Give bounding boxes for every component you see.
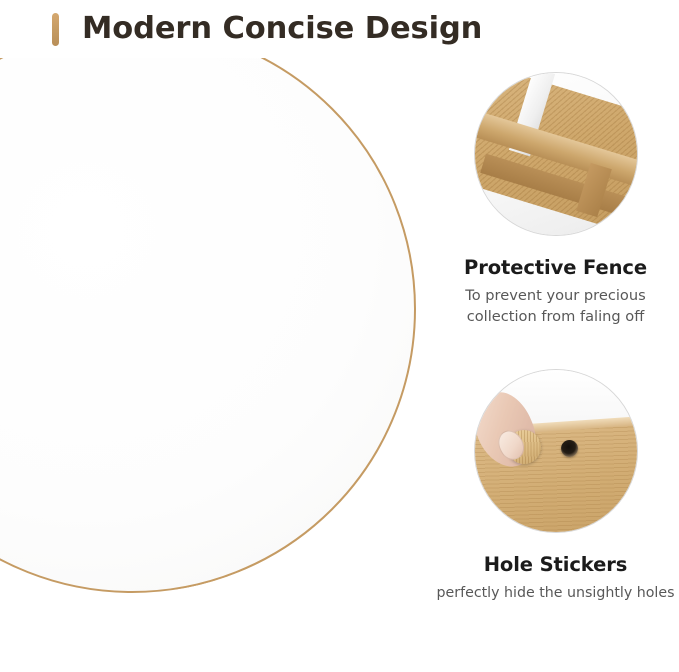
feature-hole-stickers: Hole Stickers perfectly hide the unsight… xyxy=(432,369,679,604)
finger-placing-hole-sticker-photo xyxy=(474,369,638,533)
feature-title: Hole Stickers xyxy=(432,554,679,576)
page-header: Modern Concise Design xyxy=(0,0,679,58)
feature-description: perfectly hide the unsightly holes xyxy=(432,583,679,603)
page-title: Modern Concise Design xyxy=(82,14,482,45)
hero-product-image xyxy=(0,58,432,672)
feature-protective-fence: Protective Fence To prevent your preciou… xyxy=(432,72,679,328)
feature-description: To prevent your precious collection from… xyxy=(432,286,679,327)
feature-panel: Protective Fence To prevent your preciou… xyxy=(432,58,679,672)
title-accent-bar xyxy=(52,13,59,46)
feature-title: Protective Fence xyxy=(432,257,679,279)
unsightly-screw-hole xyxy=(561,440,578,457)
shelf-corner-fence-photo xyxy=(474,72,638,236)
